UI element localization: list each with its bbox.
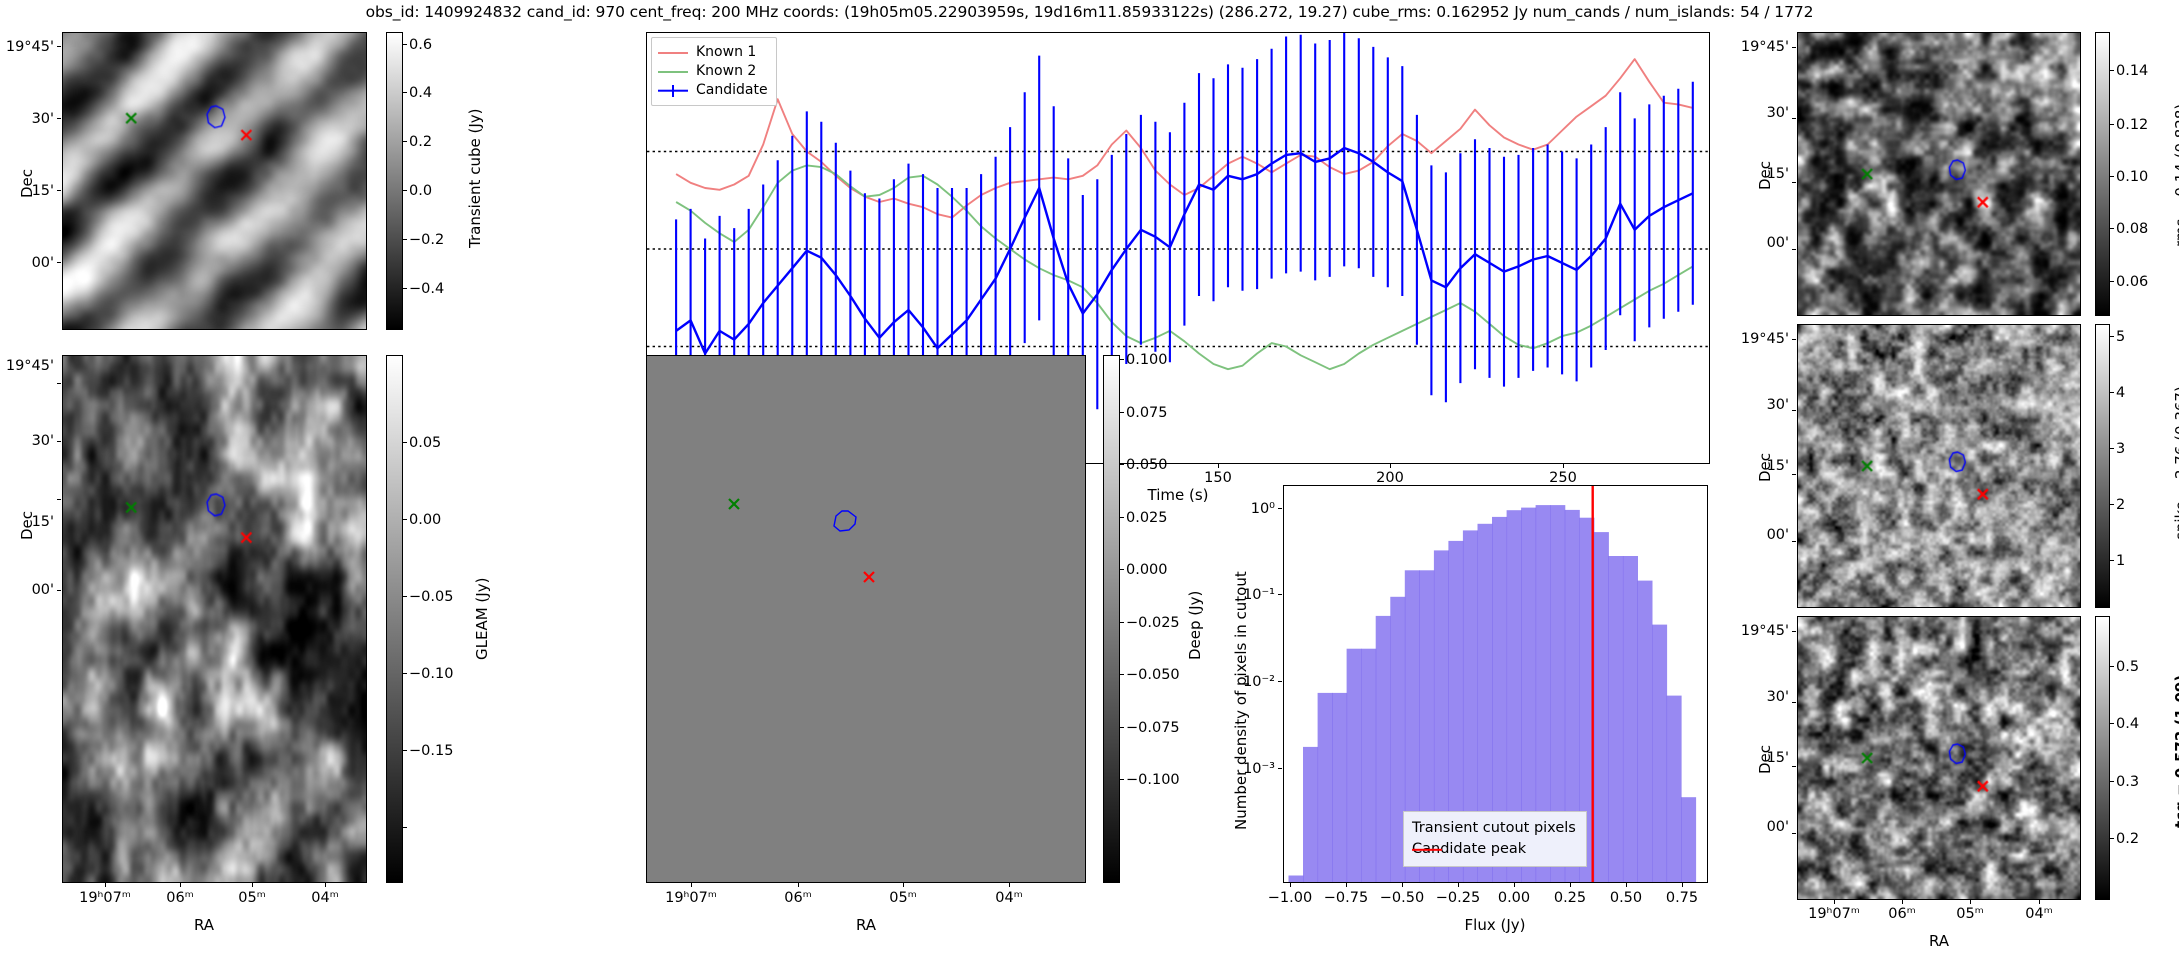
gleam-cb-tick-0: 0.05	[409, 435, 441, 451]
spike-ylabel: Dec	[1756, 453, 1774, 482]
spike-cb-tick-0: 5	[2116, 329, 2125, 345]
figure-root: obs_id: 1409924832 cand_id: 970 cent_fre…	[0, 0, 2179, 960]
deep-cb-tick-6: −0.050	[1126, 667, 1180, 683]
legend-label-cutout-pixels: Transient cutout pixels	[1412, 818, 1576, 839]
gleam-xlabel: RA	[194, 916, 214, 934]
tcg-cb-tick-1: 0.4	[2116, 716, 2139, 732]
gleam-cb-tick-3: −0.10	[409, 666, 453, 682]
rms-ytick-0: 19°45'	[1741, 39, 1789, 55]
transient-cube-cb-tick-2: 0.2	[409, 134, 432, 150]
legend-label-candidate: Candidate	[696, 81, 768, 100]
deep-axes[interactable]	[646, 355, 1086, 883]
deep-xtick-3: 04ᵐ	[995, 890, 1023, 906]
deep-colorbar-label: Deep (Jy)	[1186, 591, 1204, 660]
gleam-xtick-2: 05ᵐ	[238, 890, 266, 906]
tcg-xtick-2: 05ᵐ	[1956, 906, 1984, 922]
deep-cb-tick-1: 0.075	[1126, 405, 1168, 421]
gleam-ylabel: Dec	[18, 511, 36, 540]
lightcurve-xtick-3: 150	[1204, 470, 1232, 486]
deep-cb-tick-7: −0.075	[1126, 720, 1180, 736]
spike-colorbar	[2095, 324, 2110, 608]
transient-cube-ytick-3: 00'	[32, 255, 54, 271]
hist-ylabel: Number density of pixels in cutout	[1232, 571, 1250, 830]
gleam-cb-tick-2: −0.05	[409, 589, 453, 605]
gleam-xtick-1: 06ᵐ	[166, 890, 194, 906]
gleam-cb-tick-1: 0.00	[409, 512, 441, 528]
transient-cube-ytick-1: 30'	[32, 111, 54, 127]
hist-xlabel: Flux (Jy)	[1465, 916, 1526, 934]
hist-xtick-4: 0.00	[1498, 890, 1530, 906]
legend-row-known1: Known 1	[658, 43, 768, 62]
spike-cb-tick-4: 1	[2116, 553, 2125, 569]
spike-ytick-1: 30'	[1767, 397, 1789, 413]
transient-cube-colorbar-label: Transient cube (Jy)	[466, 109, 484, 248]
transient-cube-ytick-0: 19°45'	[6, 39, 54, 55]
lightcurve-xlabel: Time (s)	[1148, 486, 1209, 504]
transient-cube-ylabel: Dec	[18, 169, 36, 198]
transient-cube-cb-tick-3: 0.0	[409, 183, 432, 199]
tcg-ytick-1: 30'	[1767, 689, 1789, 705]
transient-cube-image	[63, 33, 366, 329]
hist-xtick-1: −0.75	[1324, 890, 1368, 906]
spike-colorbar-label: spike = 2.76 (0.367)	[2172, 386, 2179, 540]
rms-axes[interactable]	[1797, 32, 2081, 316]
lightcurve-legend: Known 1 Known 2 Candidate	[651, 37, 777, 106]
legend-row-candidate-peak: Candidate peak	[1412, 839, 1576, 860]
deep-xtick-2: 05ᵐ	[889, 890, 917, 906]
rms-cb-tick-4: 0.06	[2116, 274, 2148, 290]
legend-row-cutout-pixels: Transient cutout pixels	[1412, 818, 1576, 839]
rms-cb-tick-3: 0.08	[2116, 221, 2148, 237]
deep-cb-tick-5: −0.025	[1126, 615, 1180, 631]
spike-cb-tick-3: 2	[2116, 497, 2125, 513]
gleam-image	[63, 356, 366, 882]
hist-xtick-7: 0.75	[1666, 890, 1698, 906]
legend-label-known1: Known 1	[696, 43, 756, 62]
tcg-colorbar-label: tcg = 0.572 (1.09)	[2172, 675, 2179, 828]
hist-xtick-3: −0.25	[1436, 890, 1480, 906]
rms-cb-tick-0: 0.14	[2116, 63, 2148, 79]
gleam-xtick-0: 19ʰ07ᵐ	[79, 890, 131, 906]
hist-ytick-0: 10⁰	[1251, 501, 1275, 517]
deep-cb-tick-2: 0.050	[1126, 457, 1168, 473]
tcg-ylabel: Dec	[1756, 745, 1774, 774]
gleam-xtick-3: 04ᵐ	[311, 890, 339, 906]
histogram-legend: Transient cutout pixels Candidate peak	[1403, 811, 1587, 867]
hist-xtick-5: 0.25	[1554, 890, 1586, 906]
deep-cb-tick-4: 0.000	[1126, 562, 1168, 578]
gleam-cb-tick-4: −0.15	[409, 743, 453, 759]
candidate-errorbar-swatch	[658, 84, 688, 98]
tcg-cb-tick-3: 0.2	[2116, 831, 2139, 847]
legend-label-known2: Known 2	[696, 62, 756, 81]
deep-xtick-0: 19ʰ07ᵐ	[665, 890, 717, 906]
spike-image	[1798, 325, 2080, 607]
tcg-axes[interactable]	[1797, 616, 2081, 900]
gleam-ytick-0: 19°45'	[6, 358, 54, 374]
deep-image	[647, 356, 1086, 883]
spike-cb-tick-2: 3	[2116, 441, 2125, 457]
spike-cb-tick-1: 4	[2116, 385, 2125, 401]
spike-ytick-3: 00'	[1767, 527, 1789, 543]
legend-row-candidate: Candidate	[658, 81, 768, 100]
tcg-colorbar	[2095, 616, 2110, 900]
lightcurve-xtick-4: 200	[1376, 470, 1404, 486]
transient-cube-cb-tick-1: 0.4	[409, 85, 432, 101]
gleam-colorbar	[386, 355, 403, 883]
rms-ytick-1: 30'	[1767, 105, 1789, 121]
rms-cb-tick-1: 0.12	[2116, 117, 2148, 133]
transient-cube-colorbar	[386, 32, 403, 330]
deep-cb-tick-8: −0.100	[1126, 772, 1180, 788]
tcg-ytick-3: 00'	[1767, 819, 1789, 835]
tcg-cb-tick-2: 0.3	[2116, 774, 2139, 790]
tcg-ytick-0: 19°45'	[1741, 623, 1789, 639]
tcg-image	[1798, 617, 2080, 899]
transient-cube-cb-tick-0: 0.6	[409, 37, 432, 53]
tcg-xlabel: RA	[1929, 932, 1949, 950]
deep-xlabel: RA	[856, 916, 876, 934]
deep-colorbar	[1103, 355, 1120, 883]
tcg-xtick-3: 04ᵐ	[2025, 906, 2053, 922]
rms-cb-tick-2: 0.10	[2116, 169, 2148, 185]
spike-ytick-0: 19°45'	[1741, 331, 1789, 347]
legend-row-known2: Known 2	[658, 62, 768, 81]
deep-cb-tick-3: 0.025	[1126, 510, 1168, 526]
known2-line-swatch	[658, 65, 688, 79]
rms-ytick-3: 00'	[1767, 235, 1789, 251]
hist-xtick-2: −0.50	[1380, 890, 1424, 906]
tcg-xtick-1: 06ᵐ	[1888, 906, 1916, 922]
hist-xtick-6: 0.50	[1610, 890, 1642, 906]
figure-suptitle: obs_id: 1409924832 cand_id: 970 cent_fre…	[0, 3, 2179, 21]
transient-cube-axes[interactable]	[62, 32, 367, 330]
tcg-xtick-0: 19ʰ07ᵐ	[1808, 906, 1860, 922]
tcg-cb-tick-0: 0.5	[2116, 659, 2139, 675]
rms-ylabel: Dec	[1756, 161, 1774, 190]
gleam-colorbar-label: GLEAM (Jy)	[473, 578, 491, 660]
lightcurve-xtick-5: 250	[1549, 470, 1577, 486]
transient-cube-cb-tick-5: −0.4	[409, 281, 444, 297]
rms-colorbar-label: rms = 0.14 (0.828)	[2172, 104, 2179, 247]
known1-line-swatch	[658, 46, 688, 60]
rms-image	[1798, 33, 2080, 315]
transient-cube-cb-tick-4: −0.2	[409, 232, 444, 248]
gleam-axes[interactable]	[62, 355, 367, 883]
deep-cb-tick-0: 0.100	[1126, 352, 1168, 368]
gleam-ytick-1: 30'	[32, 433, 54, 449]
hist-xtick-0: −1.00	[1268, 890, 1312, 906]
rms-colorbar	[2095, 32, 2110, 316]
spike-axes[interactable]	[1797, 324, 2081, 608]
deep-xtick-1: 06ᵐ	[784, 890, 812, 906]
gleam-ytick-3: 00'	[32, 582, 54, 598]
